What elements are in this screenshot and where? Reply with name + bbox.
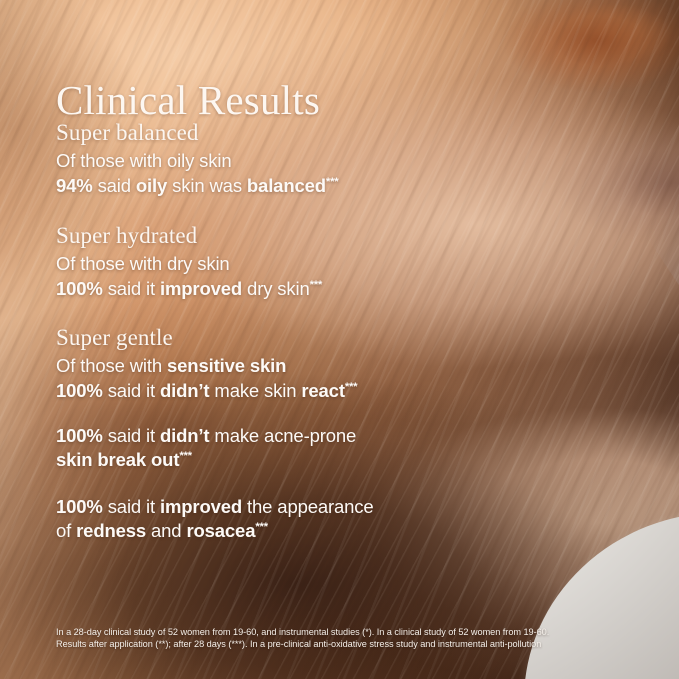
claim-block-acne-prone: 100% said it didn’t make acne-prone skin…: [56, 424, 476, 473]
footnote-marker: ***: [255, 521, 268, 533]
claim-stat-emphasis: react: [301, 380, 344, 401]
claim-stat-text: said it: [103, 278, 160, 299]
content-layer: Clinical Results Super balanced Of those…: [0, 0, 679, 679]
claim-stat-text: make acne-prone: [209, 425, 356, 446]
footnote-marker: ***: [310, 278, 323, 290]
claim-stat-emphasis: redness: [76, 520, 146, 541]
claim-statistic-line-wrap: of redness and rosacea***: [56, 519, 476, 544]
claim-stat-emphasis: didn’t: [160, 380, 209, 401]
claim-stat-text: said it: [103, 496, 160, 517]
claim-stat-emphasis: rosacea: [186, 520, 255, 541]
claim-block-super-hydrated: Super hydrated Of those with dry skin 10…: [56, 221, 476, 302]
claim-stat-text: said it: [103, 425, 160, 446]
claim-stat-text: dry skin: [242, 278, 310, 299]
claim-statistic-line: 100% said it improved dry skin***: [56, 277, 476, 302]
claim-statistic-line: 100% said it didn’t make acne-prone: [56, 424, 476, 449]
claim-subline: Of those with sensitive skin: [56, 354, 476, 379]
claim-subline: Of those with dry skin: [56, 252, 476, 277]
claim-block-super-balanced: Super balanced Of those with oily skin 9…: [56, 118, 476, 199]
claim-stat-text: make skin: [209, 380, 301, 401]
claim-subline: Of those with oily skin: [56, 149, 476, 174]
footnote-line-2: Results after application (**); after 28…: [56, 638, 656, 650]
claim-heading: Super gentle: [56, 323, 476, 353]
claim-statistic-line-wrap: skin break out***: [56, 448, 476, 473]
claim-stat-text: the appearance: [242, 496, 373, 517]
footnote-marker: ***: [326, 176, 339, 188]
claim-stat-value: 100%: [56, 496, 103, 517]
claim-subline-text: Of those with: [56, 355, 167, 376]
claim-block-redness-rosacea: 100% said it improved the appearance of …: [56, 495, 476, 544]
claim-stat-emphasis: improved: [160, 278, 242, 299]
claim-stat-emphasis: skin break out: [56, 449, 179, 470]
claim-stat-text: of: [56, 520, 76, 541]
claim-stat-value: 100%: [56, 380, 103, 401]
footnote-line-1: In a 28-day clinical study of 52 women f…: [56, 626, 656, 638]
claim-stat-value: 100%: [56, 278, 103, 299]
claim-statistic-line: 100% said it didn’t make skin react***: [56, 379, 476, 404]
claim-stat-emphasis: didn’t: [160, 425, 209, 446]
claim-statistic-line: 100% said it improved the appearance: [56, 495, 476, 520]
claim-stat-emphasis: improved: [160, 496, 242, 517]
claim-stat-emphasis: balanced: [247, 175, 326, 196]
claim-stat-emphasis: oily: [136, 175, 167, 196]
claim-heading: Super hydrated: [56, 221, 476, 251]
claim-heading: Super balanced: [56, 118, 476, 148]
claim-block-super-gentle: Super gentle Of those with sensitive ski…: [56, 323, 476, 404]
claim-stat-text: said it: [103, 380, 160, 401]
footnote-disclaimer: In a 28-day clinical study of 52 women f…: [56, 626, 656, 650]
claim-stat-value: 94%: [56, 175, 93, 196]
claim-statistic-line: 94% said oily skin was balanced***: [56, 174, 476, 199]
footnote-marker: ***: [179, 450, 192, 462]
claims-list: Super balanced Of those with oily skin 9…: [56, 118, 476, 566]
claim-stat-text: and: [146, 520, 186, 541]
footnote-marker: ***: [345, 381, 358, 393]
claim-stat-value: 100%: [56, 425, 103, 446]
claim-stat-text: skin was: [167, 175, 247, 196]
clinical-results-panel: Clinical Results Super balanced Of those…: [0, 0, 679, 679]
claim-stat-text: said: [93, 175, 136, 196]
page-title: Clinical Results: [56, 79, 320, 122]
claim-subline-emphasis: sensitive skin: [167, 355, 286, 376]
